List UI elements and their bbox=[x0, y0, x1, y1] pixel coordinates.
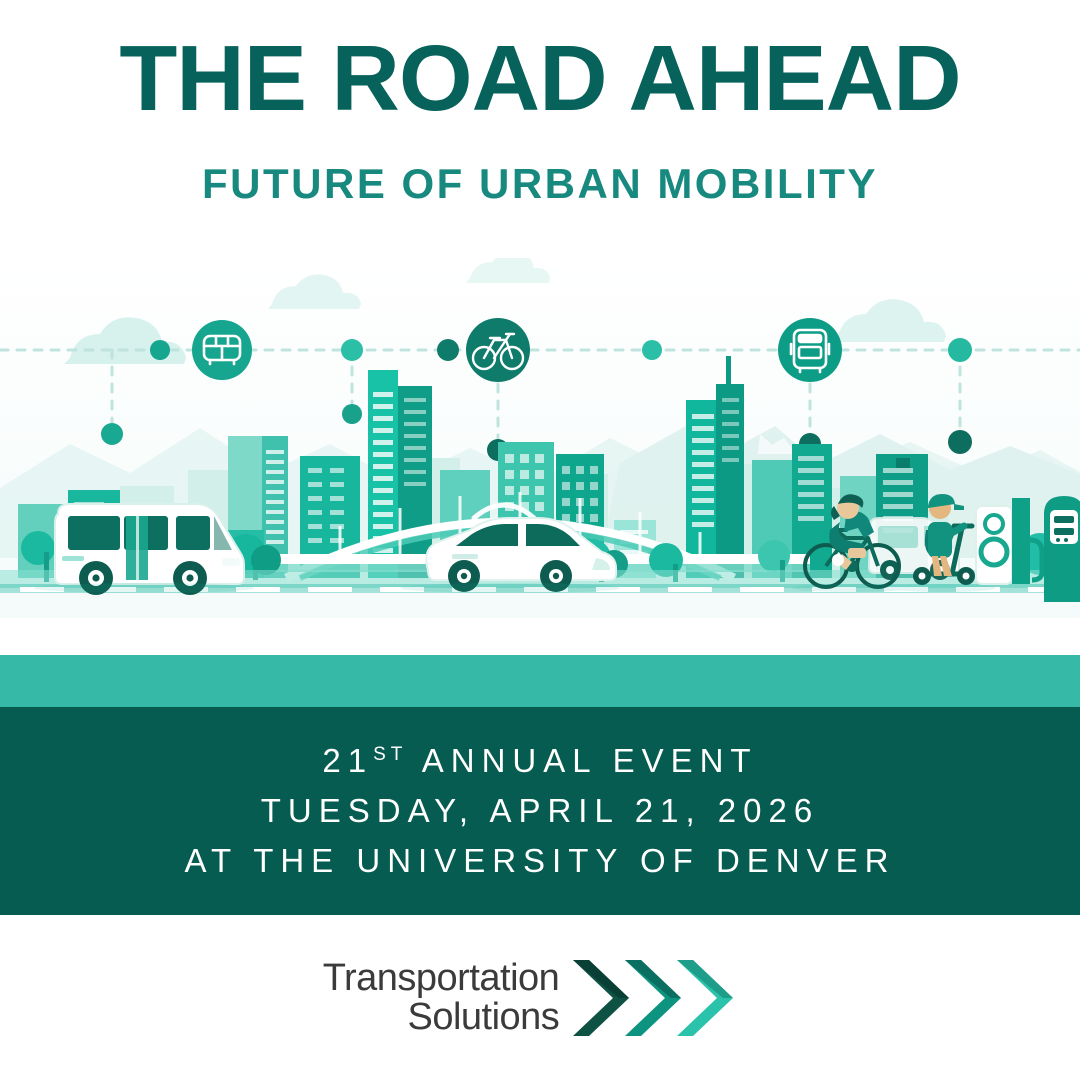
hero-illustration bbox=[0, 258, 1080, 618]
bus-icon bbox=[778, 318, 842, 382]
city-bus bbox=[55, 504, 244, 595]
page-subtitle: FUTURE OF URBAN MOBILITY bbox=[0, 160, 1080, 208]
brand-name-line2: Solutions bbox=[323, 998, 560, 1037]
node-dot bbox=[642, 340, 662, 360]
page-title: THE ROAD AHEAD bbox=[0, 32, 1080, 125]
node-dot bbox=[341, 339, 363, 361]
brand-name-line1: Transportation bbox=[323, 959, 560, 998]
event-line-annual: 21ST ANNUAL EVENT bbox=[322, 742, 757, 780]
brand-logo-text: Transportation Solutions bbox=[323, 959, 560, 1037]
event-annual-text: ANNUAL EVENT bbox=[407, 742, 757, 779]
node-dot bbox=[948, 338, 972, 362]
event-info-band: 21ST ANNUAL EVENT TUESDAY, APRIL 21, 202… bbox=[0, 707, 1080, 915]
chevron-logo-icon bbox=[567, 954, 757, 1042]
cityscape-svg bbox=[0, 258, 1080, 618]
event-ordinal-suffix: ST bbox=[373, 744, 407, 765]
brand-logo: Transportation Solutions bbox=[0, 938, 1080, 1058]
event-info: 21ST ANNUAL EVENT TUESDAY, APRIL 21, 202… bbox=[0, 707, 1080, 915]
header: THE ROAD AHEAD FUTURE OF URBAN MOBILITY bbox=[0, 0, 1080, 240]
poster: THE ROAD AHEAD FUTURE OF URBAN MOBILITY bbox=[0, 0, 1080, 1080]
event-ordinal-number: 21 bbox=[322, 742, 373, 779]
accent-band bbox=[0, 655, 1080, 707]
node-dot bbox=[342, 404, 362, 424]
node-dot bbox=[437, 339, 459, 361]
event-line-venue: AT THE UNIVERSITY OF DENVER bbox=[185, 842, 896, 880]
bicycle-icon bbox=[466, 318, 530, 382]
ground-shadows bbox=[34, 583, 996, 593]
node-dot bbox=[150, 340, 170, 360]
event-line-date: TUESDAY, APRIL 21, 2026 bbox=[261, 792, 819, 830]
tram-icon bbox=[192, 320, 252, 380]
node-dot bbox=[101, 423, 123, 445]
node-dot bbox=[948, 430, 972, 454]
